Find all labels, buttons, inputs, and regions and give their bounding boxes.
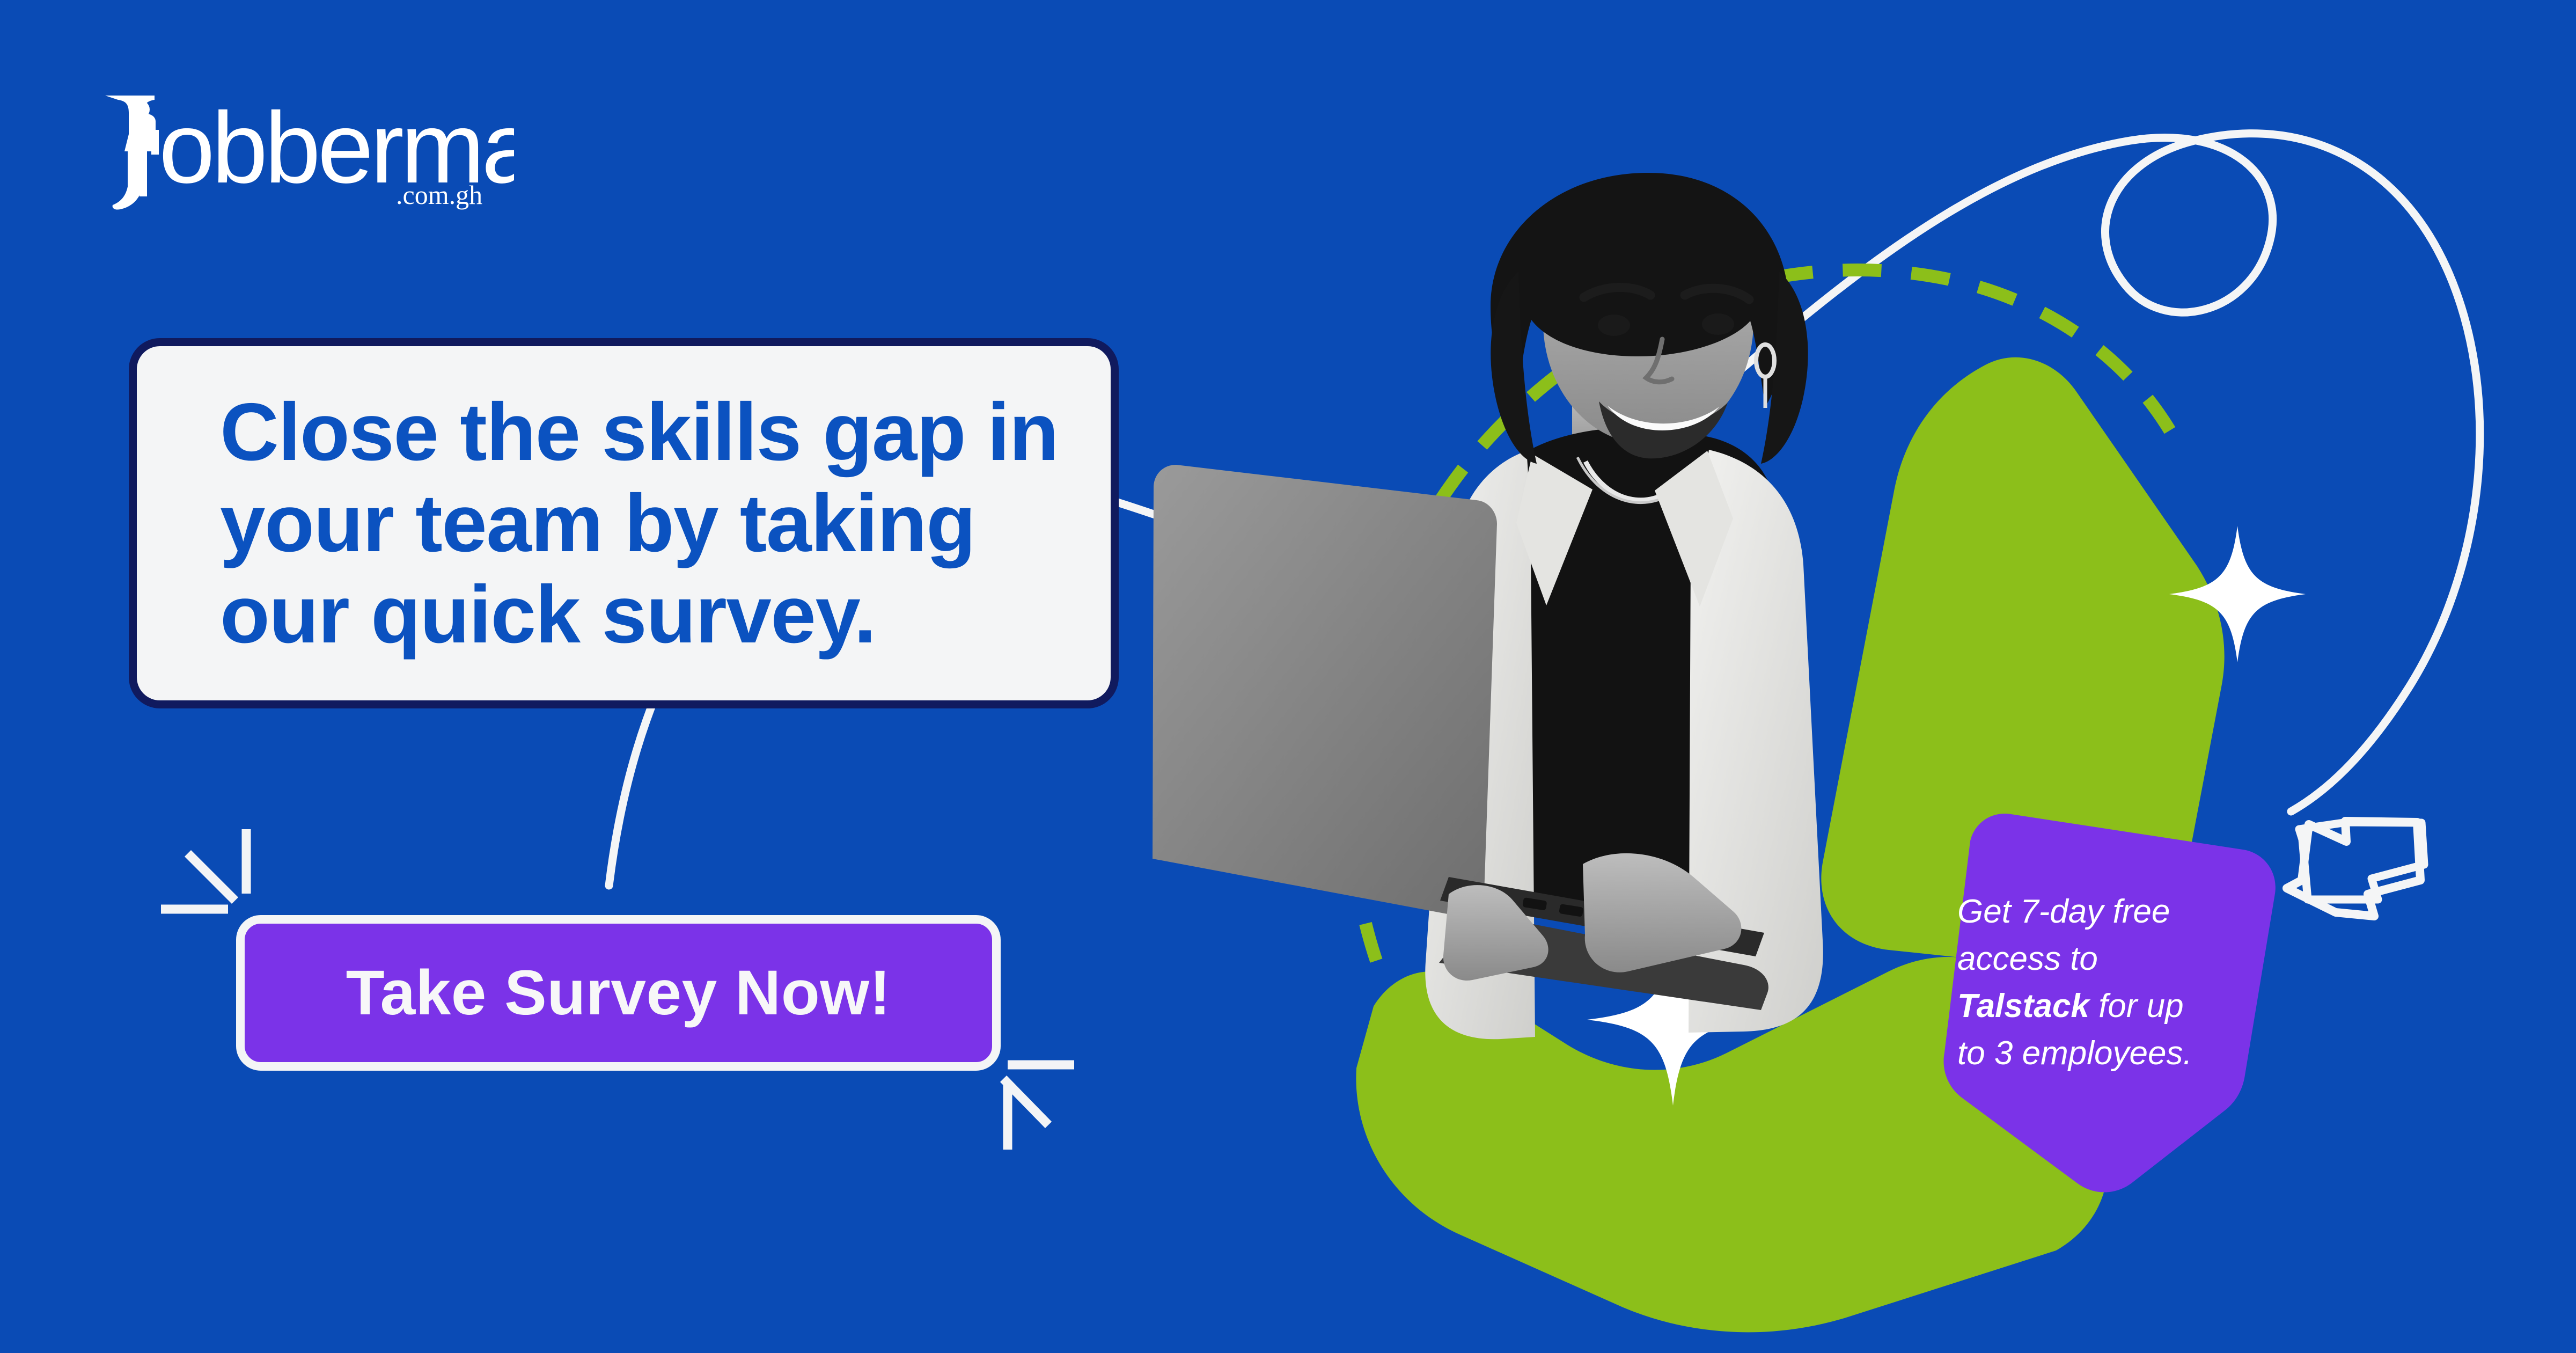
headline-card: Close the skills gap in your team by tak…: [129, 338, 1119, 708]
promo-line-1: Get 7-day free: [1957, 893, 2170, 930]
promo-line-3-tail: for up: [2089, 988, 2184, 1025]
promo-banner: obberman .com.gh Close the skills gap in…: [0, 0, 2576, 1353]
logo-domain-suffix: .com.gh: [396, 180, 482, 210]
page-title: Close the skills gap in your team by tak…: [137, 386, 1058, 661]
promo-line-2: access to: [1957, 940, 2098, 977]
person-figure-j-icon: [105, 96, 159, 210]
promo-line-4: to 3 employees.: [1957, 1035, 2192, 1072]
promo-brand-name: Talstack: [1957, 988, 2089, 1025]
jobberman-logo[interactable]: obberman .com.gh: [96, 90, 514, 214]
promo-badge-text: Get 7-day free access to Talstack for up…: [1957, 888, 2247, 1077]
promo-badge: Get 7-day free access to Talstack for up…: [1921, 808, 2286, 1200]
take-survey-button[interactable]: Take Survey Now!: [236, 915, 1001, 1071]
take-survey-button-label: Take Survey Now!: [346, 956, 891, 1029]
